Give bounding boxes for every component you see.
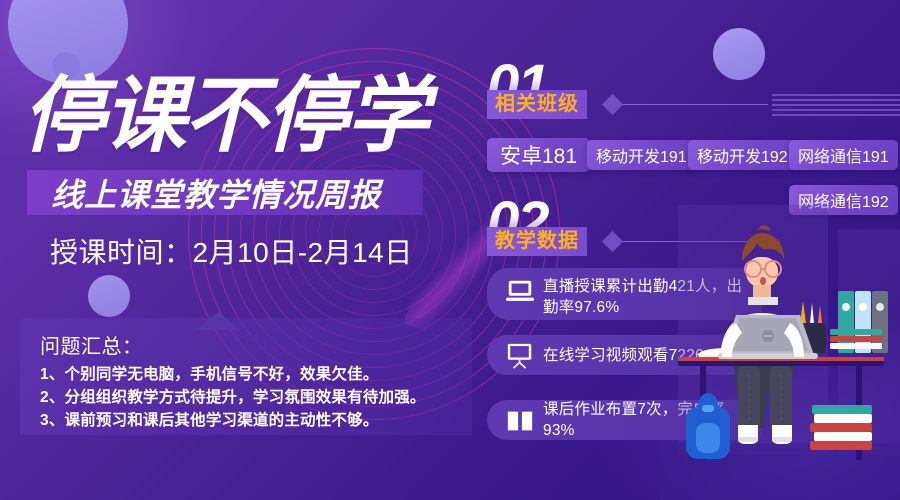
problem-summary-box: 问题汇总： 1、个别同学无电脑，手机信号不好，效果欠佳。 2、分组组织教学方式待… <box>20 318 472 435</box>
class-tag[interactable]: 移动开发192 <box>688 140 797 170</box>
section-divider-decoration <box>605 94 900 116</box>
section-header-01: 01 相关班级 <box>487 60 900 119</box>
poster-canvas: 停课不停学 线上课堂教学情况周报 授课时间：2月10日-2月14日 问题汇总： … <box>0 0 900 500</box>
book-icon <box>505 407 535 435</box>
circle-decoration-mid <box>88 275 130 317</box>
projector-icon <box>505 342 535 370</box>
problem-item: 3、课前预习和课后其他学习渠道的主动性不够。 <box>40 409 456 432</box>
page-subtitle: 线上课堂教学情况周报 <box>27 170 381 216</box>
class-tag[interactable]: 网络通信191 <box>789 140 898 170</box>
stripe-decoration <box>772 94 900 116</box>
problem-item: 1、个别同学无电脑，手机信号不好，效果欠佳。 <box>40 363 456 386</box>
divider-line <box>620 104 768 106</box>
section-label: 相关班级 <box>487 90 587 119</box>
problem-item: 2、分组组织教学方式待提升，学习氛围效果有待加强。 <box>40 386 456 409</box>
subtitle-band: 线上课堂教学情况周报 <box>27 170 423 215</box>
section-label: 教学数据 <box>487 227 587 256</box>
class-tag[interactable]: 移动开发191 <box>587 140 696 170</box>
diamond-icon <box>602 231 623 252</box>
page-title: 停课不停学 <box>22 68 474 164</box>
laptop-icon <box>505 278 535 306</box>
student-illustration <box>660 205 900 500</box>
teaching-date-range: 授课时间：2月10日-2月14日 <box>50 231 413 271</box>
problem-summary-heading: 问题汇总： <box>40 330 456 359</box>
diamond-icon <box>602 94 623 115</box>
class-tag[interactable]: 安卓181 <box>487 138 590 172</box>
